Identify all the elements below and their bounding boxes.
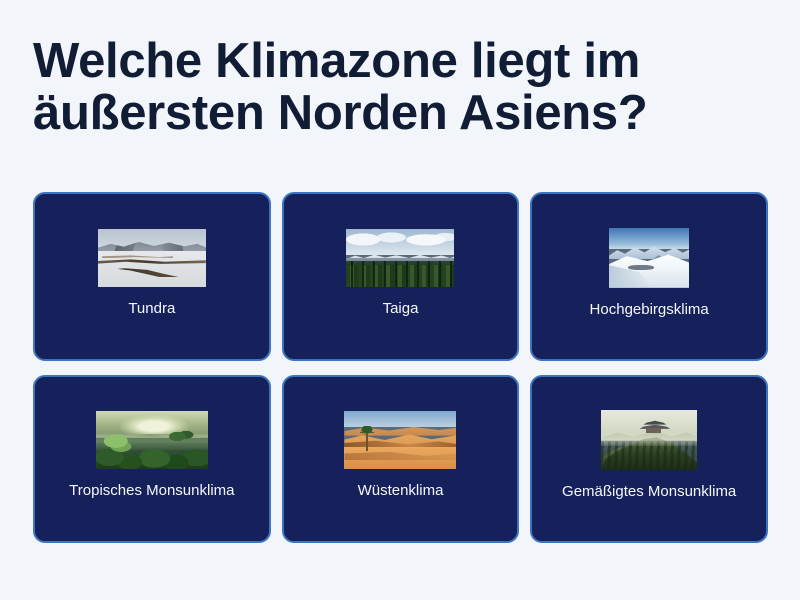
answer-label-tropisches-monsunklima: Tropisches Monsunklima xyxy=(63,482,240,500)
answer-card-content: Wüstenklima xyxy=(284,411,518,500)
answer-label-hochgebirgsklima: Hochgebirgsklima xyxy=(584,301,715,319)
question-area: Welche Klimazone liegt im äußersten Nord… xyxy=(33,36,773,176)
taiga-icon xyxy=(346,229,454,287)
answer-card-content: Taiga xyxy=(284,229,518,318)
answer-card-tropisches-monsunklima[interactable]: Tropisches Monsunklima xyxy=(33,375,271,544)
answer-options-grid: Tundra Taiga xyxy=(33,192,768,543)
answer-card-content: Tundra xyxy=(35,229,269,318)
question-text: Welche Klimazone liegt im äußersten Nord… xyxy=(33,36,773,140)
quiz-screen: Welche Klimazone liegt im äußersten Nord… xyxy=(0,0,800,600)
tropisches-monsunklima-icon xyxy=(96,411,208,469)
answer-card-taiga[interactable]: Taiga xyxy=(282,192,520,361)
answer-card-gemaessigtes-monsunklima[interactable]: Gemäßigtes Monsunklima xyxy=(530,375,768,544)
answer-card-content: Gemäßigtes Monsunklima xyxy=(532,410,766,501)
answer-card-wuestenklima[interactable]: Wüstenklima xyxy=(282,375,520,544)
answer-card-hochgebirgsklima[interactable]: Hochgebirgsklima xyxy=(530,192,768,361)
tundra-icon xyxy=(98,229,206,287)
answer-label-gemaessigtes-monsunklima: Gemäßigtes Monsunklima xyxy=(556,483,742,501)
wuestenklima-icon xyxy=(344,411,456,469)
answer-label-tundra: Tundra xyxy=(122,300,181,318)
answer-card-content: Hochgebirgsklima xyxy=(532,228,766,319)
answer-card-tundra[interactable]: Tundra xyxy=(33,192,271,361)
hochgebirgsklima-icon xyxy=(609,228,689,288)
answer-label-wuestenklima: Wüstenklima xyxy=(352,482,450,500)
answer-label-taiga: Taiga xyxy=(377,300,425,318)
gemaessigtes-monsunklima-icon xyxy=(601,410,697,470)
answer-card-content: Tropisches Monsunklima xyxy=(35,411,269,500)
